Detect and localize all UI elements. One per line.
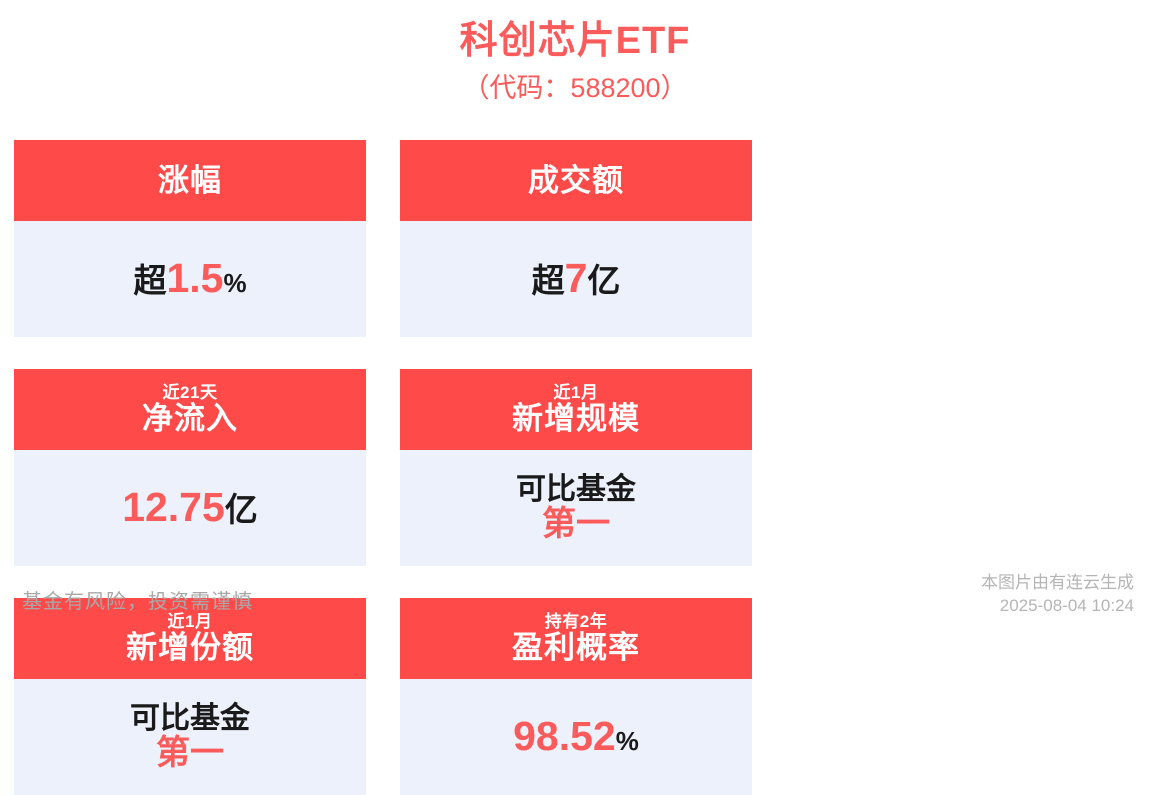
metric-card-turnover: 成交额 超 7 亿	[400, 140, 752, 337]
risk-disclaimer: 基金有风险，投资需谨慎	[22, 585, 253, 622]
metric-card-net-inflow: 近21天 净流入 12.75 亿	[14, 369, 366, 566]
metric-card-change: 涨幅 超 1.5 %	[14, 140, 366, 337]
card-header-net-inflow: 近21天 净流入	[14, 369, 366, 450]
card-body-change: 超 1.5 %	[14, 221, 366, 337]
generation-credit: 本图片由有连云生成 2025-08-04 10:24	[981, 572, 1134, 622]
card-header-title: 成交额	[528, 164, 624, 197]
metric-caption: 可比基金	[130, 703, 250, 735]
metric-caption: 可比基金	[516, 474, 636, 506]
page-header: 科创芯片ETF （代码：588200）	[0, 0, 1150, 104]
etf-summary-page: 科创芯片ETF （代码：588200） 涨幅 超 1.5 % 成交额	[0, 0, 1150, 632]
metric-suffix: %	[223, 270, 246, 298]
metric-value: 12.75	[122, 486, 225, 529]
page-title: 科创芯片ETF	[0, 20, 1150, 64]
card-header-change: 涨幅	[14, 140, 366, 221]
page-footer: 基金有风险，投资需谨慎 本图片由有连云生成 2025-08-04 10:24	[0, 572, 1150, 632]
metric-rank: 第一	[156, 735, 224, 771]
metric-value: 98.52	[513, 715, 616, 758]
metric-prefix: 超	[532, 264, 565, 299]
card-body-net-inflow: 12.75 亿	[14, 450, 366, 566]
metric-value-row: 超 1.5 %	[133, 257, 246, 300]
card-header-title: 净流入	[142, 402, 238, 435]
card-body-turnover: 超 7 亿	[400, 221, 752, 337]
metric-suffix: %	[616, 728, 639, 756]
card-header-title: 涨幅	[158, 164, 222, 197]
metric-value-row: 12.75 亿	[122, 486, 258, 529]
credit-source: 本图片由有连云生成	[981, 572, 1134, 595]
metric-prefix: 超	[133, 264, 166, 299]
metric-value: 1.5	[166, 257, 223, 300]
fund-code: （代码：588200）	[0, 72, 1150, 104]
card-header-title: 新增规模	[512, 402, 640, 435]
metric-suffix: 亿	[587, 264, 620, 299]
card-header-title: 新增份额	[126, 631, 254, 664]
metric-card-grid: 涨幅 超 1.5 % 成交额 超 7 亿	[14, 140, 1136, 795]
card-body-new-scale: 可比基金 第一	[400, 450, 752, 566]
credit-timestamp: 2025-08-04 10:24	[981, 595, 1134, 618]
metric-suffix: 亿	[225, 493, 258, 528]
card-header-turnover: 成交额	[400, 140, 752, 221]
metric-value: 7	[565, 257, 588, 300]
card-header-new-scale: 近1月 新增规模	[400, 369, 752, 450]
metric-rank: 第一	[542, 506, 610, 542]
metric-value-row: 超 7 亿	[532, 257, 621, 300]
card-header-subtitle: 近21天	[163, 384, 218, 402]
card-header-subtitle: 近1月	[554, 384, 599, 402]
metric-card-new-scale: 近1月 新增规模 可比基金 第一	[400, 369, 752, 566]
metric-value-row: 98.52 %	[513, 715, 639, 758]
card-body-new-shares: 可比基金 第一	[14, 679, 366, 795]
card-body-profit-probability: 98.52 %	[400, 679, 752, 795]
card-header-title: 盈利概率	[512, 631, 640, 664]
